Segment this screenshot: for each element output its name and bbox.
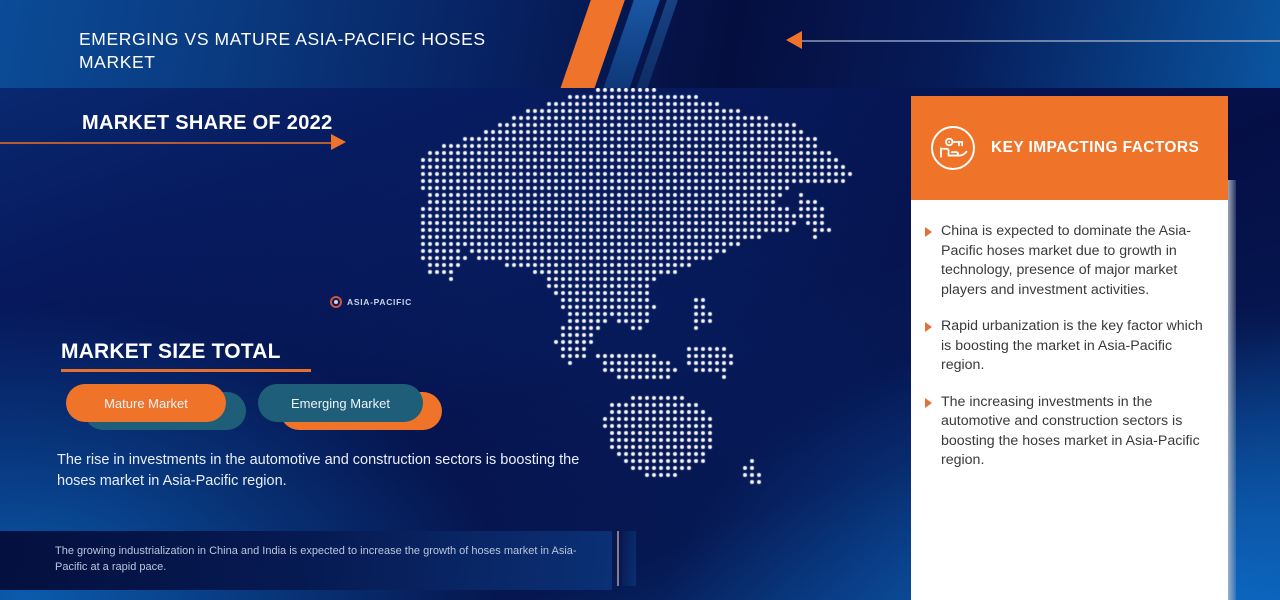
infographic-canvas: EMERGING VS MATURE ASIA-PACIFIC HOSES MA… xyxy=(0,0,1280,600)
market-size-underline xyxy=(61,369,311,372)
legend-pill-mature[interactable]: Mature Market xyxy=(66,384,226,422)
list-item: The increasing investments in the automo… xyxy=(925,393,1212,471)
hand-holding-key-icon xyxy=(929,124,977,172)
footer-divider xyxy=(617,531,619,586)
legend-label-mature: Mature Market xyxy=(104,396,188,411)
asia-pacific-marker: ASIA-PACIFIC xyxy=(330,296,412,308)
panel-title: KEY IMPACTING FACTORS xyxy=(991,139,1199,157)
panel-drop-shadow xyxy=(1228,180,1236,600)
header-arrow-line xyxy=(800,40,1280,42)
market-size-heading: MARKET SIZE TOTAL xyxy=(61,340,281,364)
list-item: Rapid urbanization is the key factor whi… xyxy=(925,317,1212,376)
target-ring-icon xyxy=(330,296,342,308)
footer-text: The growing industrialization in China a… xyxy=(55,543,595,575)
market-share-heading: MARKET SHARE OF 2022 xyxy=(82,112,333,135)
bullet-triangle-icon xyxy=(925,227,932,237)
asia-pacific-label: ASIA-PACIFIC xyxy=(347,297,412,307)
body-paragraph: The rise in investments in the automotiv… xyxy=(57,450,617,492)
page-title: EMERGING VS MATURE ASIA-PACIFIC HOSES MA… xyxy=(79,28,549,74)
bullet-triangle-icon xyxy=(925,398,932,408)
list-item: China is expected to dominate the Asia-P… xyxy=(925,222,1212,300)
map-dot-canvas xyxy=(400,88,870,508)
arrow-left-icon xyxy=(786,31,802,49)
bullet-text: The increasing investments in the automo… xyxy=(941,393,1212,471)
key-impacting-factors-panel: KEY IMPACTING FACTORS China is expected … xyxy=(911,96,1228,600)
legend-label-emerging: Emerging Market xyxy=(291,396,390,411)
bullet-text: Rapid urbanization is the key factor whi… xyxy=(941,317,1212,376)
legend-item-emerging-market[interactable]: Emerging Market xyxy=(258,384,438,432)
market-share-rule xyxy=(0,142,332,144)
bullet-text: China is expected to dominate the Asia-P… xyxy=(941,222,1212,300)
dotted-world-map xyxy=(400,88,870,508)
legend-pill-emerging[interactable]: Emerging Market xyxy=(258,384,423,422)
panel-bullet-list: China is expected to dominate the Asia-P… xyxy=(911,200,1228,488)
bullet-triangle-icon xyxy=(925,322,932,332)
arrow-right-icon xyxy=(331,134,346,150)
legend-item-mature-market[interactable]: Mature Market xyxy=(66,384,246,432)
target-center-dot xyxy=(334,300,338,304)
panel-header: KEY IMPACTING FACTORS xyxy=(911,96,1228,200)
footer-accent-block xyxy=(622,531,636,586)
